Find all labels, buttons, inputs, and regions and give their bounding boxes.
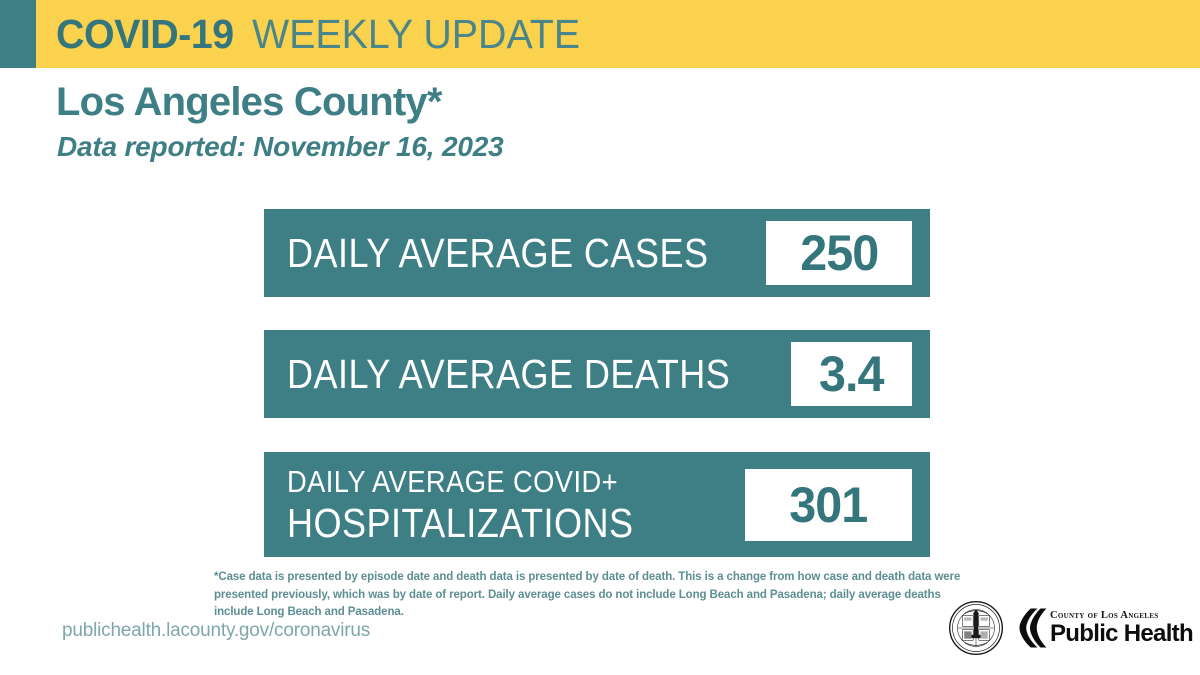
page-title: Los Angeles County* bbox=[56, 80, 442, 125]
stat-value-box: 301 bbox=[745, 469, 912, 541]
county-seal-icon bbox=[948, 600, 1004, 656]
public-health-wordmark: County of Los Angeles Public Health bbox=[1050, 610, 1193, 646]
double-chevron-icon bbox=[1018, 607, 1048, 649]
header-banner: COVID-19 WEEKLY UPDATE bbox=[0, 0, 1200, 68]
stat-value-box: 250 bbox=[766, 221, 912, 285]
stat-value: 250 bbox=[800, 228, 878, 278]
stat-label-wrap: DAILY AVERAGE CASES bbox=[264, 233, 766, 274]
public-health-logo: County of Los Angeles Public Health bbox=[1018, 607, 1193, 649]
stat-value-box: 3.4 bbox=[791, 342, 912, 406]
stat-label: DAILY AVERAGE DEATHS bbox=[287, 354, 730, 395]
header-title-strong: COVID-19 bbox=[56, 11, 234, 58]
logo-row: County of Los Angeles Public Health bbox=[948, 598, 1192, 658]
header-accent-block bbox=[0, 0, 36, 68]
stat-value: 301 bbox=[789, 480, 867, 530]
stat-label-line2: HOSPITALIZATIONS bbox=[287, 503, 690, 544]
stat-bar-daily-average-hospitalizations: DAILY AVERAGE COVID+ HOSPITALIZATIONS 30… bbox=[264, 452, 930, 557]
stat-bar-daily-average-cases: DAILY AVERAGE CASES 250 bbox=[264, 209, 930, 297]
footnote-text: *Case data is presented by episode date … bbox=[214, 569, 982, 622]
data-reported-subtitle: Data reported: November 16, 2023 bbox=[57, 131, 503, 163]
header-title-light: WEEKLY UPDATE bbox=[252, 11, 580, 58]
stat-label-wrap: DAILY AVERAGE DEATHS bbox=[264, 354, 791, 395]
stat-value: 3.4 bbox=[819, 349, 884, 399]
stat-bar-daily-average-deaths: DAILY AVERAGE DEATHS 3.4 bbox=[264, 330, 930, 418]
stat-label-line1: DAILY AVERAGE COVID+ bbox=[287, 466, 690, 497]
stat-label-wrap: DAILY AVERAGE COVID+ HOSPITALIZATIONS bbox=[264, 466, 745, 544]
public-health-wordmark-bottom: Public Health bbox=[1050, 621, 1193, 646]
header-title: COVID-19 WEEKLY UPDATE bbox=[56, 0, 594, 68]
website-url[interactable]: publichealth.lacounty.gov/coronavirus bbox=[62, 620, 370, 642]
stat-label: DAILY AVERAGE CASES bbox=[287, 233, 708, 274]
infographic-page: COVID-19 WEEKLY UPDATE Los Angeles Count… bbox=[0, 0, 1200, 675]
